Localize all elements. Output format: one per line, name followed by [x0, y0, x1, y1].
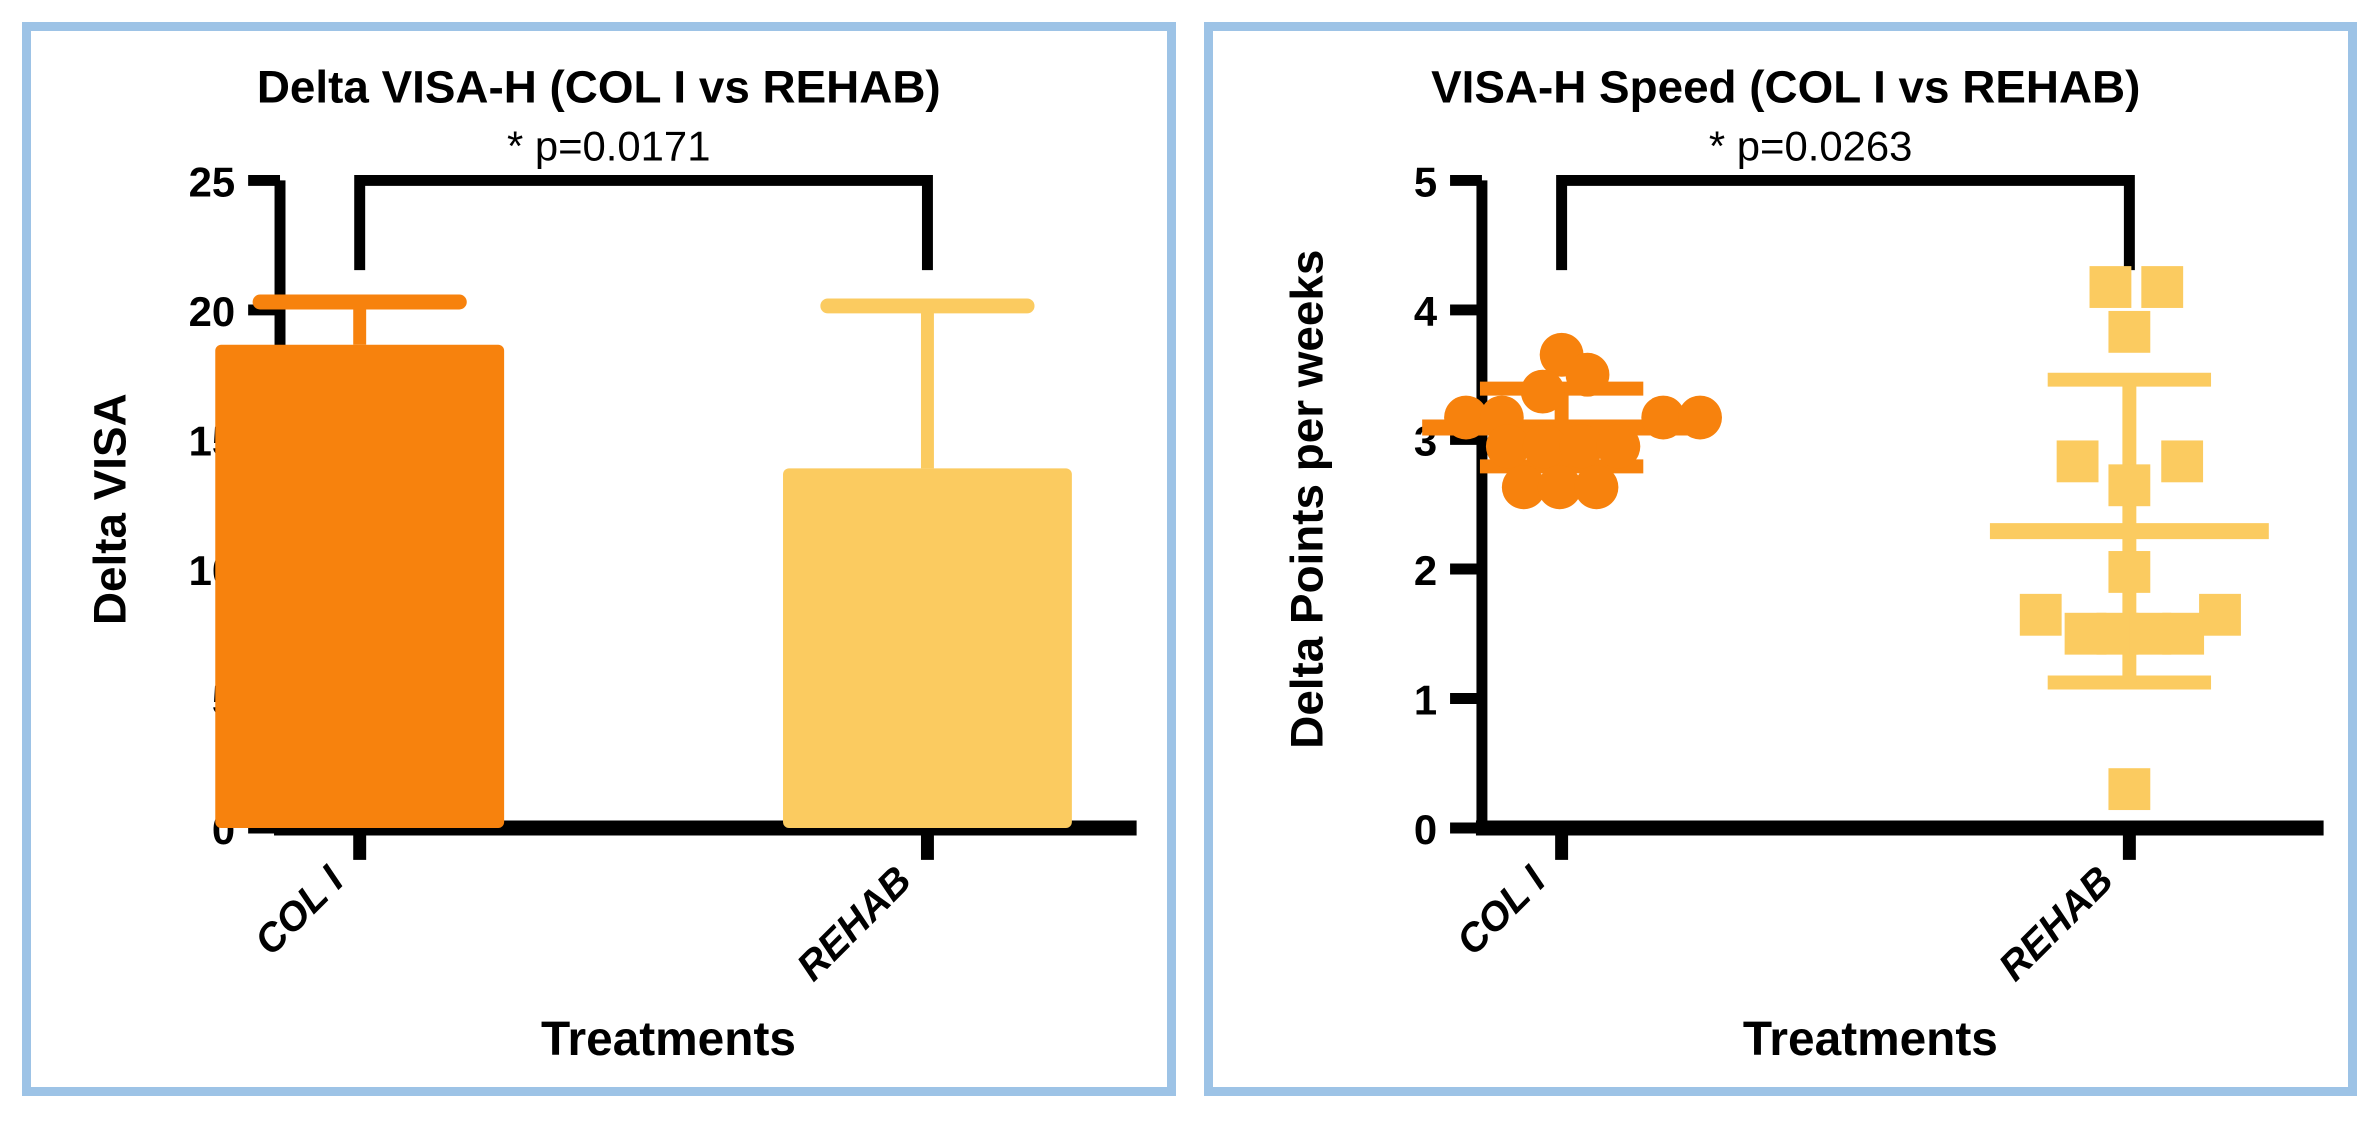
data-point[interactable]	[1565, 353, 1609, 397]
left-chart-title: Delta VISA-H (COL I vs REHAB)	[257, 62, 941, 113]
data-point[interactable]	[1574, 465, 1618, 509]
panel-left-bar-chart: Delta VISA-H (COL I vs REHAB) * p=0.0171	[22, 22, 1176, 1096]
data-point[interactable]	[2019, 594, 2061, 636]
right-xtick-label-rehab: REHAB	[1990, 858, 2121, 989]
right-ytick-label-2: 2	[1413, 547, 1436, 594]
data-point[interactable]	[2108, 768, 2150, 810]
left-ytick-label-25: 25	[189, 158, 236, 205]
bar-rehab-group[interactable]	[783, 306, 1072, 828]
right-plot-area: VISA-H Speed (COL I vs REHAB) * p=0.0263	[1213, 31, 2349, 1087]
panel-container: Delta VISA-H (COL I vs REHAB) * p=0.0171	[0, 0, 2379, 1124]
data-point[interactable]	[1596, 425, 1640, 469]
right-x-axis-title: Treatments	[1742, 1013, 1997, 1066]
data-point[interactable]	[2056, 440, 2098, 482]
right-ytick-label-4: 4	[1413, 288, 1437, 335]
data-point[interactable]	[2199, 594, 2241, 636]
data-point[interactable]	[2089, 266, 2131, 308]
data-point[interactable]	[1678, 396, 1722, 440]
left-chart-svg: Delta VISA-H (COL I vs REHAB) * p=0.0171	[31, 31, 1167, 1087]
right-pvalue-annotation: * p=0.0263	[1708, 123, 1912, 170]
figure-root: Delta VISA-H (COL I vs REHAB) * p=0.0171	[0, 0, 2379, 1124]
left-bracket-path	[360, 180, 928, 270]
data-point[interactable]	[1520, 370, 1564, 414]
left-xtick-label-col-i: COL I	[246, 857, 352, 963]
left-x-axis-title: Treatments	[541, 1013, 796, 1066]
left-plot-area: Delta VISA-H (COL I vs REHAB) * p=0.0171	[31, 31, 1167, 1087]
right-chart-svg: VISA-H Speed (COL I vs REHAB) * p=0.0263	[1213, 31, 2349, 1087]
panel-right-scatter-chart: VISA-H Speed (COL I vs REHAB) * p=0.0263	[1204, 22, 2358, 1096]
data-point[interactable]	[2108, 551, 2150, 593]
right-xtick-label-col-i: COL I	[1448, 857, 1554, 963]
left-significance-bracket	[360, 180, 928, 270]
left-pvalue-annotation: * p=0.0171	[507, 123, 711, 170]
data-point[interactable]	[2108, 311, 2150, 353]
bar-col-i[interactable]	[215, 345, 504, 828]
data-point[interactable]	[2161, 440, 2203, 482]
right-ytick-label-0: 0	[1413, 806, 1436, 853]
left-xtick-label-rehab: REHAB	[789, 858, 920, 989]
right-ytick-label-5: 5	[1413, 158, 1436, 205]
right-y-axis-title: Delta Points per weeks	[1281, 250, 1332, 749]
right-ytick-label-1: 1	[1413, 676, 1436, 723]
scatter-group-rehab[interactable]	[1989, 266, 2268, 810]
scatter-group-col-i[interactable]	[1422, 333, 1722, 509]
right-chart-title: VISA-H Speed (COL I vs REHAB)	[1431, 62, 2140, 113]
bar-col-i-group[interactable]	[215, 302, 504, 828]
data-point[interactable]	[2108, 464, 2150, 506]
right-significance-bracket	[1561, 180, 2129, 270]
left-y-axis-title: Delta VISA	[85, 393, 136, 625]
left-ytick-label-20: 20	[189, 288, 236, 335]
right-bracket-path	[1561, 180, 2129, 270]
bar-rehab[interactable]	[783, 468, 1072, 828]
data-point[interactable]	[2162, 613, 2204, 655]
data-point[interactable]	[2141, 266, 2183, 308]
